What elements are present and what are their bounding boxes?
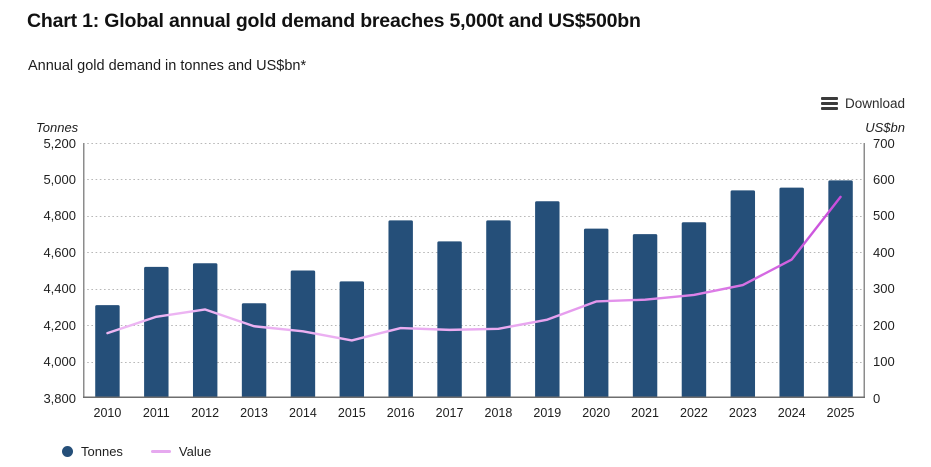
x-tick-label-2024: 2024 (778, 406, 806, 420)
bar-2021[interactable] (633, 234, 657, 398)
bar-2016[interactable] (388, 220, 412, 398)
y-tick-label: 4,000 (43, 355, 76, 368)
bar-2022[interactable] (682, 222, 706, 398)
x-tick-label-2015: 2015 (338, 406, 366, 420)
bar-2025[interactable] (828, 180, 852, 398)
chart-subtitle: Annual gold demand in tonnes and US$bn* (28, 58, 306, 74)
bar-2019[interactable] (535, 201, 559, 398)
bar-2012[interactable] (193, 263, 217, 398)
x-tick-label-2013: 2013 (240, 406, 268, 420)
download-button[interactable]: Download (821, 96, 905, 111)
y2-tick-label: 500 (873, 209, 895, 222)
legend-item-tonnes[interactable]: Tonnes (62, 444, 123, 459)
bar-2017[interactable] (437, 241, 461, 398)
legend-line-icon (151, 450, 171, 453)
x-tick-label-2012: 2012 (191, 406, 219, 420)
y-tick-label: 4,200 (43, 319, 76, 332)
x-tick-label-2011: 2011 (143, 406, 170, 420)
left-axis-ticks: 3,8004,0004,2004,4004,6004,8005,0005,200 (30, 143, 76, 398)
y2-tick-label: 400 (873, 246, 895, 259)
y-tick-label: 4,400 (43, 282, 76, 295)
y2-tick-label: 100 (873, 355, 895, 368)
y2-tick-label: 200 (873, 319, 895, 332)
page-title: Chart 1: Global annual gold demand breac… (27, 10, 641, 33)
legend-label-value: Value (179, 444, 211, 459)
x-tick-label-2021: 2021 (631, 406, 659, 420)
x-tick-label-2018: 2018 (485, 406, 513, 420)
chart-card: Chart 1: Global annual gold demand breac… (0, 0, 931, 467)
right-axis-ticks: 0100200300400500600700 (873, 143, 913, 398)
plot-area (83, 143, 865, 398)
y2-tick-label: 600 (873, 173, 895, 186)
y-tick-label: 5,000 (43, 173, 76, 186)
y-tick-label: 3,800 (43, 392, 76, 405)
y2-tick-label: 700 (873, 137, 895, 150)
legend: Tonnes Value (62, 444, 211, 459)
y2-tick-label: 0 (873, 392, 880, 405)
x-axis-ticks: 2010201120122013201420152016201720182019… (83, 406, 865, 426)
bar-2014[interactable] (291, 271, 315, 399)
x-tick-label-2023: 2023 (729, 406, 757, 420)
hamburger-menu-icon (821, 97, 838, 110)
x-tick-label-2022: 2022 (680, 406, 708, 420)
value-line-series (107, 197, 840, 341)
legend-label-tonnes: Tonnes (81, 444, 123, 459)
x-tick-label-2014: 2014 (289, 406, 317, 420)
y-tick-label: 4,600 (43, 246, 76, 259)
x-tick-label-2010: 2010 (94, 406, 122, 420)
bar-2011[interactable] (144, 267, 168, 398)
bar-2018[interactable] (486, 220, 510, 398)
bar-2013[interactable] (242, 303, 266, 398)
y-tick-label: 5,200 (43, 137, 76, 150)
plot-svg (83, 143, 865, 398)
download-label: Download (845, 96, 905, 111)
y2-tick-label: 300 (873, 282, 895, 295)
legend-item-value[interactable]: Value (151, 444, 211, 459)
bar-2024[interactable] (779, 188, 803, 398)
x-tick-label-2019: 2019 (533, 406, 561, 420)
bar-2020[interactable] (584, 229, 608, 398)
x-tick-label-2025: 2025 (827, 406, 855, 420)
bar-2010[interactable] (95, 305, 119, 398)
x-tick-label-2016: 2016 (387, 406, 415, 420)
legend-dot-icon (62, 446, 73, 457)
bar-2023[interactable] (731, 190, 755, 398)
left-axis-caption: Tonnes (36, 120, 78, 135)
right-axis-caption: US$bn (865, 120, 905, 135)
x-tick-label-2017: 2017 (436, 406, 464, 420)
x-tick-label-2020: 2020 (582, 406, 610, 420)
y-tick-label: 4,800 (43, 209, 76, 222)
